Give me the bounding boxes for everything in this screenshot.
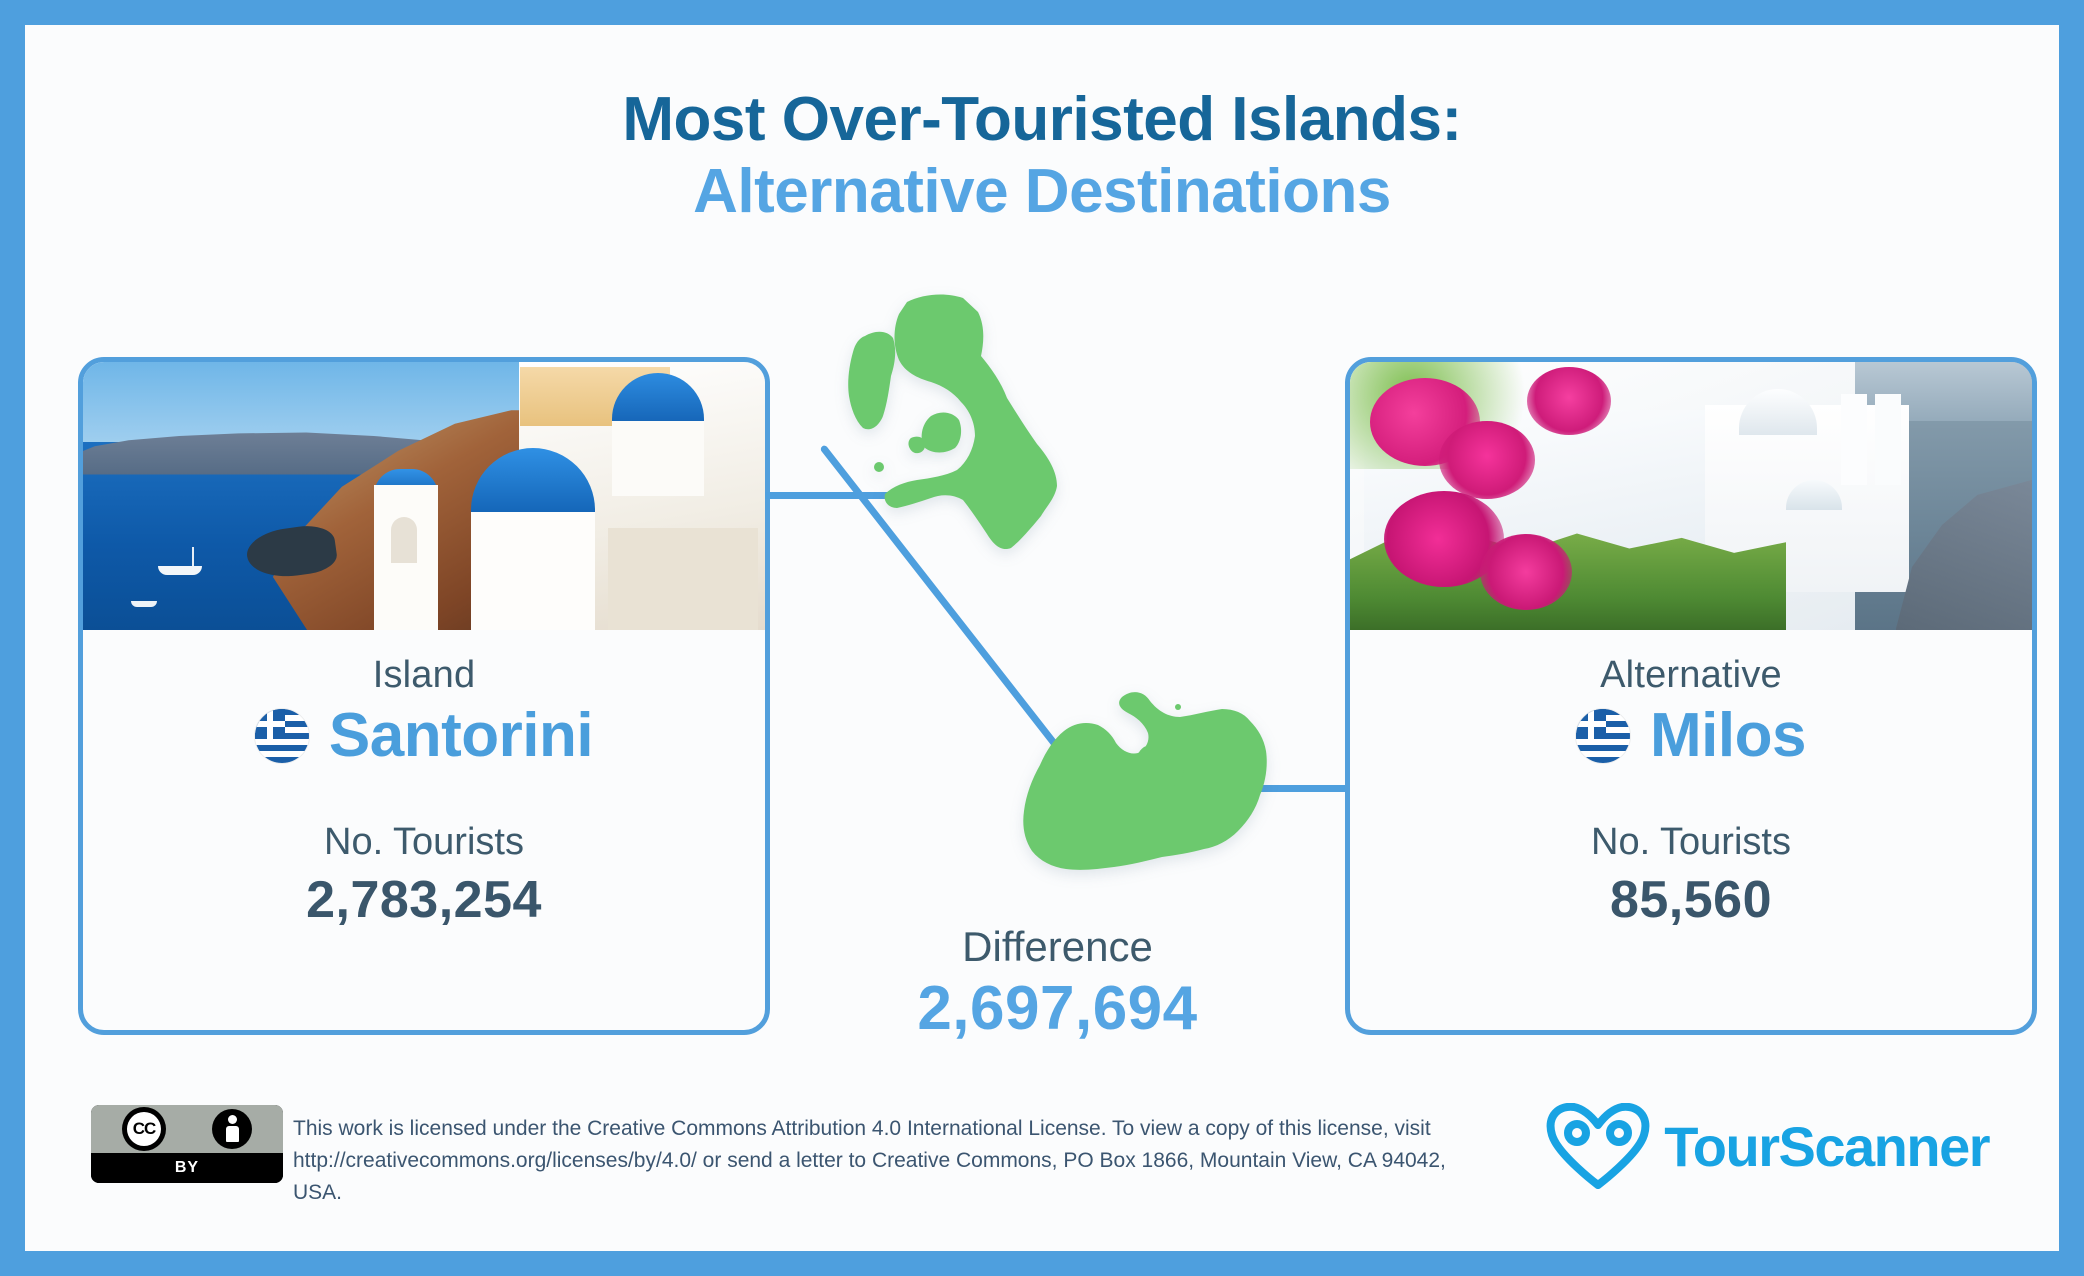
island-card-left: Island Santorini No. Tourists 2,783,254: [78, 357, 770, 1035]
right-tourists-label: No. Tourists: [1350, 821, 2032, 864]
santorini-island-map: [845, 290, 1095, 580]
left-card-name-row: Santorini: [83, 705, 765, 767]
left-card-kicker: Island: [83, 654, 765, 697]
santorini-photo: [83, 362, 765, 630]
page-title: Most Over-Touristed Islands: Alternative…: [25, 87, 2059, 224]
title-line-primary: Most Over-Touristed Islands:: [25, 87, 2059, 153]
title-line-secondary: Alternative Destinations: [25, 159, 2059, 225]
greece-flag-icon: [255, 709, 309, 763]
right-card-name-row: Milos: [1350, 705, 2032, 767]
comparison-center: Difference 2,697,694: [770, 325, 1345, 1045]
milos-photo: [1350, 362, 2032, 630]
left-island-name: Santorini: [329, 705, 593, 767]
difference-value: 2,697,694: [770, 973, 1345, 1044]
license-text: This work is licensed under the Creative…: [293, 1113, 1473, 1209]
creative-commons-badge: CC BY: [91, 1105, 283, 1183]
left-tourists-label: No. Tourists: [83, 821, 765, 864]
brand-name: TourScanner: [1664, 1114, 1989, 1179]
greece-flag-icon: [1576, 709, 1630, 763]
difference-block: Difference 2,697,694: [770, 923, 1345, 1044]
cc-by-label: BY: [91, 1153, 283, 1183]
attribution-person-icon: [212, 1109, 252, 1149]
milos-island-map: [1018, 685, 1286, 885]
infographic-frame: Most Over-Touristed Islands: Alternative…: [25, 25, 2059, 1251]
cc-label: CC: [127, 1112, 161, 1146]
license-line-1: This work is licensed under the Creative…: [293, 1113, 1473, 1145]
footer: CC BY This work is licensed under the Cr…: [25, 1093, 2059, 1203]
difference-label: Difference: [770, 923, 1345, 971]
right-tourists-value: 85,560: [1350, 870, 2032, 930]
island-card-right: Alternative Milos No. Tourists 85,560: [1345, 357, 2037, 1035]
tourscanner-logo: TourScanner: [1546, 1103, 1989, 1189]
right-island-name: Milos: [1650, 705, 1806, 767]
tourscanner-pin-heart-icon: [1546, 1103, 1650, 1189]
left-tourists-value: 2,783,254: [83, 870, 765, 930]
license-line-2: http://creativecommons.org/licenses/by/4…: [293, 1145, 1473, 1209]
right-card-kicker: Alternative: [1350, 654, 2032, 697]
cc-icon: CC: [122, 1107, 166, 1151]
